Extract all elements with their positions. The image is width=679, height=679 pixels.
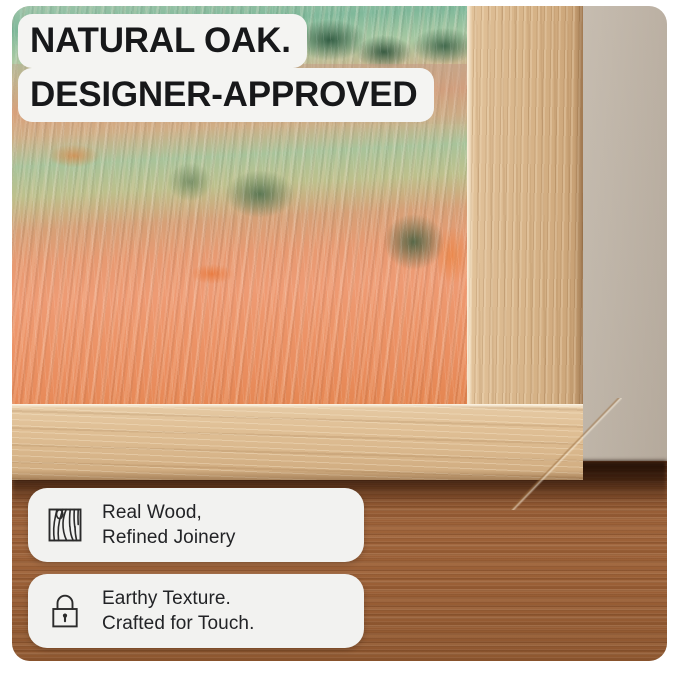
feature-card-earthy-texture: Earthy Texture. Crafted for Touch.: [28, 574, 364, 648]
feature-card-list: Real Wood, Refined Joinery Earthy Textur…: [28, 488, 364, 648]
headline-line-2: DESIGNER-APPROVED: [18, 68, 434, 122]
headline-line-1: NATURAL OAK.: [18, 14, 307, 68]
oak-frame-miter-joint: [510, 398, 622, 510]
oak-frame-bottom-rail: [12, 404, 583, 480]
feature-text-real-wood: Real Wood, Refined Joinery: [102, 500, 236, 550]
product-image-stage: NATURAL OAK. DESIGNER-APPROVED R: [0, 0, 679, 679]
feature-card-real-wood: Real Wood, Refined Joinery: [28, 488, 364, 562]
wood-grain-icon: [44, 504, 86, 546]
headline-group: NATURAL OAK. DESIGNER-APPROVED: [18, 14, 434, 122]
padlock-icon: [44, 590, 86, 632]
feature-text-earthy-texture: Earthy Texture. Crafted for Touch.: [102, 586, 254, 636]
